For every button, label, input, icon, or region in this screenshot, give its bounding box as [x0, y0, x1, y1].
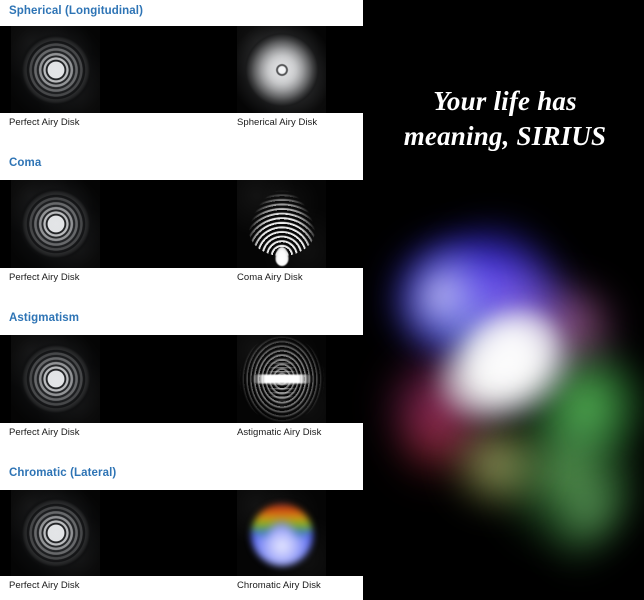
caption-perfect-airy-disk-2: Perfect Airy Disk [9, 272, 80, 283]
figure-band-1 [0, 26, 363, 113]
caption-astigmatic-airy-disk: Astigmatic Airy Disk [237, 427, 321, 438]
airy-rings-graphic [19, 187, 93, 261]
caption-perfect-airy-disk-1: Perfect Airy Disk [9, 117, 80, 128]
astigmatism-bright-bar [252, 375, 312, 384]
figure-band-2 [0, 180, 363, 268]
figure-band-4 [0, 490, 363, 576]
screenshot-stage: Spherical (Longitudinal) Perfect Airy Di… [0, 0, 644, 600]
section-title-coma: Coma [9, 157, 41, 169]
section-title-spherical: Spherical (Longitudinal) [9, 5, 143, 17]
coma-airy-disk-image [237, 180, 326, 268]
perfect-airy-disk-image-1 [11, 26, 100, 113]
caption-band-3: Perfect Airy Disk Astigmatic Airy Disk C… [0, 423, 363, 490]
perfect-airy-disk-image-2 [11, 180, 100, 268]
coma-flare-graphic [249, 190, 315, 262]
chromatic-airy-disk-image [237, 490, 326, 576]
airy-rings-graphic [19, 496, 93, 570]
chromatic-rainbow-arc [251, 504, 313, 540]
airy-rings-graphic [19, 33, 93, 107]
caption-perfect-airy-disk-3: Perfect Airy Disk [9, 427, 80, 438]
astigmatic-airy-disk-image [237, 335, 326, 423]
spherical-airy-disk-image [237, 26, 326, 113]
section-title-astigmatism: Astigmatism [9, 312, 79, 324]
airy-rings-graphic [19, 342, 93, 416]
perfect-airy-disk-image-4 [11, 490, 100, 576]
perfect-airy-disk-image-3 [11, 335, 100, 423]
caption-band-1: Perfect Airy Disk Spherical Airy Disk Co… [0, 113, 363, 180]
caption-perfect-airy-disk-4: Perfect Airy Disk [9, 580, 80, 591]
caption-chromatic-airy-disk: Chromatic Airy Disk [237, 580, 321, 591]
caption-coma-airy-disk: Coma Airy Disk [237, 272, 303, 283]
astigmatism-graphic [239, 336, 325, 422]
overlay-message-line-2: meaning, SIRIUS [374, 119, 636, 154]
nebula-yellow-glow [446, 420, 546, 510]
caption-band-2: Perfect Airy Disk Coma Airy Disk Astigma… [0, 268, 363, 335]
caption-spherical-airy-disk: Spherical Airy Disk [237, 117, 317, 128]
aberration-document: Spherical (Longitudinal) Perfect Airy Di… [0, 0, 363, 600]
spherical-blur-graphic [244, 32, 320, 108]
caption-band-4: Perfect Airy Disk Chromatic Airy Disk [0, 576, 363, 600]
figure-band-3 [0, 335, 363, 423]
coma-head [275, 247, 288, 266]
chromatic-fringe-graphic [251, 504, 313, 566]
overlay-message: Your life has meaning, SIRIUS [374, 84, 636, 154]
section-title-chromatic: Chromatic (Lateral) [9, 467, 116, 479]
overlay-message-line-1: Your life has [374, 84, 636, 119]
section-header-band-1: Spherical (Longitudinal) [0, 0, 363, 26]
nebula-artwork [372, 224, 644, 572]
